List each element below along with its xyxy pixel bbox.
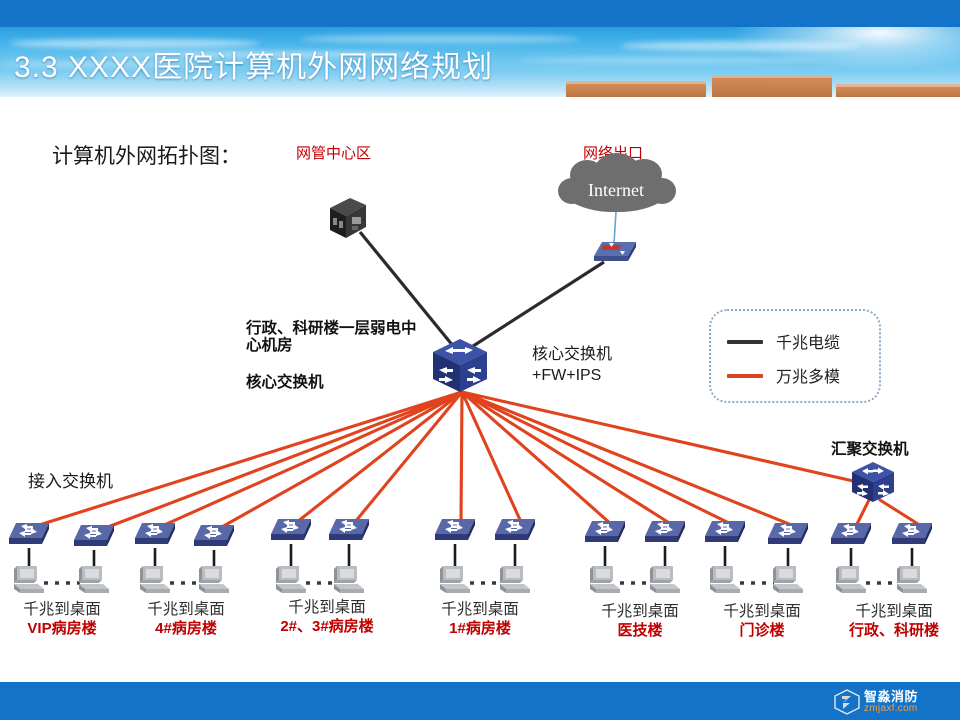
workstation-icon xyxy=(833,562,871,596)
access-switch-icon xyxy=(269,517,313,545)
workstation-icon xyxy=(331,562,369,596)
access-switch-icon xyxy=(890,521,934,549)
access-switch-icon xyxy=(7,521,51,549)
cloud-streak xyxy=(620,41,860,51)
core-room-label: 行政、科研楼一层弱电中心机房 xyxy=(246,320,421,354)
aggregation-switch-label: 汇聚交换机 xyxy=(831,437,909,459)
workstation-icon xyxy=(76,562,114,596)
legend-label-gigabit-cable: 千兆电缆 xyxy=(776,335,840,352)
workstation-icon xyxy=(137,562,175,596)
group-label-ward23: 千兆到桌面 2#、3#病房楼 xyxy=(254,598,400,637)
nmc-label: 网管中心区 xyxy=(296,142,371,163)
access-switch-label: 接入交换机 xyxy=(28,467,113,492)
aggregation-switch-icon xyxy=(849,459,897,505)
building-name-label: 2#、3#病房楼 xyxy=(254,617,400,637)
building-name-label: 医技楼 xyxy=(578,621,702,641)
building-name-label: 门诊楼 xyxy=(700,621,824,641)
group-label-ward1: 千兆到桌面 1#病房楼 xyxy=(417,600,543,639)
core-switch-label-right: 核心交换机 +FW+IPS xyxy=(532,344,612,386)
watermark-site: zmjaxf.com xyxy=(864,704,918,714)
building-silhouette xyxy=(566,81,706,97)
legend-label-10g-multimode: 万兆多模 xyxy=(776,369,840,386)
access-switch-icon xyxy=(72,523,116,551)
workstation-icon xyxy=(497,562,535,596)
group-label-vip: 千兆到桌面 VIP病房楼 xyxy=(0,600,124,639)
building-name-label: VIP病房楼 xyxy=(0,619,124,639)
group-label-admin: 千兆到桌面 行政、科研楼 xyxy=(828,602,960,641)
access-switch-icon xyxy=(192,523,236,551)
workstation-icon xyxy=(647,562,685,596)
group-label-ward4: 千兆到桌面 4#病房楼 xyxy=(126,600,246,639)
workstation-icon xyxy=(196,562,234,596)
slide-canvas: 3.3 XXXX医院计算机外网网络规划 计算机外网拓扑图： xyxy=(0,0,960,720)
group-label-outpatient: 千兆到桌面 门诊楼 xyxy=(700,602,824,641)
firewall-router-icon xyxy=(592,240,638,266)
legend-box: 千兆电缆 万兆多模 xyxy=(709,309,881,403)
access-switch-icon xyxy=(766,521,810,549)
desktop-speed-label: 千兆到桌面 xyxy=(126,600,246,619)
access-switch-icon xyxy=(327,517,371,545)
workstation-icon xyxy=(587,562,625,596)
cloud-streak xyxy=(520,57,820,63)
core-switch-icon xyxy=(429,336,491,396)
building-silhouette xyxy=(836,84,960,97)
workstation-icon xyxy=(894,562,932,596)
core-switch-features: +FW+IPS xyxy=(532,365,612,386)
access-switch-icon xyxy=(433,517,477,545)
group-label-medtech: 千兆到桌面 医技楼 xyxy=(578,602,702,641)
top-blue-bar xyxy=(0,0,960,27)
core-switch-label-left: 核心交换机 xyxy=(246,370,324,392)
legend-item-10g-multimode: 万兆多模 xyxy=(727,363,840,383)
desktop-speed-label: 千兆到桌面 xyxy=(417,600,543,619)
watermark-name: 智淼消防 xyxy=(864,690,918,703)
desktop-speed-label: 千兆到桌面 xyxy=(578,602,702,621)
access-switch-icon xyxy=(133,521,177,549)
legend-item-gigabit-cable: 千兆电缆 xyxy=(727,329,840,349)
workstation-icon xyxy=(437,562,475,596)
desktop-speed-label: 千兆到桌面 xyxy=(828,602,960,621)
desktop-speed-label: 千兆到桌面 xyxy=(254,598,400,617)
access-switch-icon xyxy=(703,519,747,547)
bottom-blue-bar xyxy=(0,682,960,720)
workstation-icon xyxy=(11,562,49,596)
legend-swatch-red xyxy=(727,374,763,378)
page-title: 3.3 XXXX医院计算机外网网络规划 xyxy=(14,42,493,86)
access-switch-icon xyxy=(583,519,627,547)
watermark-logo-icon xyxy=(834,689,860,715)
access-switch-icon xyxy=(493,517,537,545)
building-name-label: 4#病房楼 xyxy=(126,619,246,639)
workstation-icon xyxy=(770,562,808,596)
workstation-icon xyxy=(707,562,745,596)
legend-swatch-black xyxy=(727,340,763,344)
access-switch-icon xyxy=(643,519,687,547)
topology-caption: 计算机外网拓扑图： xyxy=(52,140,241,170)
watermark-text: 智淼消防 zmjaxf.com xyxy=(864,690,918,714)
access-switch-icon xyxy=(829,521,873,549)
building-name-label: 行政、科研楼 xyxy=(828,621,960,641)
internet-label: Internet xyxy=(564,168,668,212)
workstation-icon xyxy=(273,562,311,596)
core-switch-name: 核心交换机 xyxy=(532,344,612,365)
desktop-speed-label: 千兆到桌面 xyxy=(700,602,824,621)
internet-cloud-icon: Internet xyxy=(564,168,668,212)
watermark: 智淼消防 zmjaxf.com xyxy=(834,685,952,718)
building-silhouette xyxy=(712,75,832,97)
building-name-label: 1#病房楼 xyxy=(417,619,543,639)
desktop-speed-label: 千兆到桌面 xyxy=(0,600,124,619)
server-rack-icon xyxy=(328,196,368,240)
